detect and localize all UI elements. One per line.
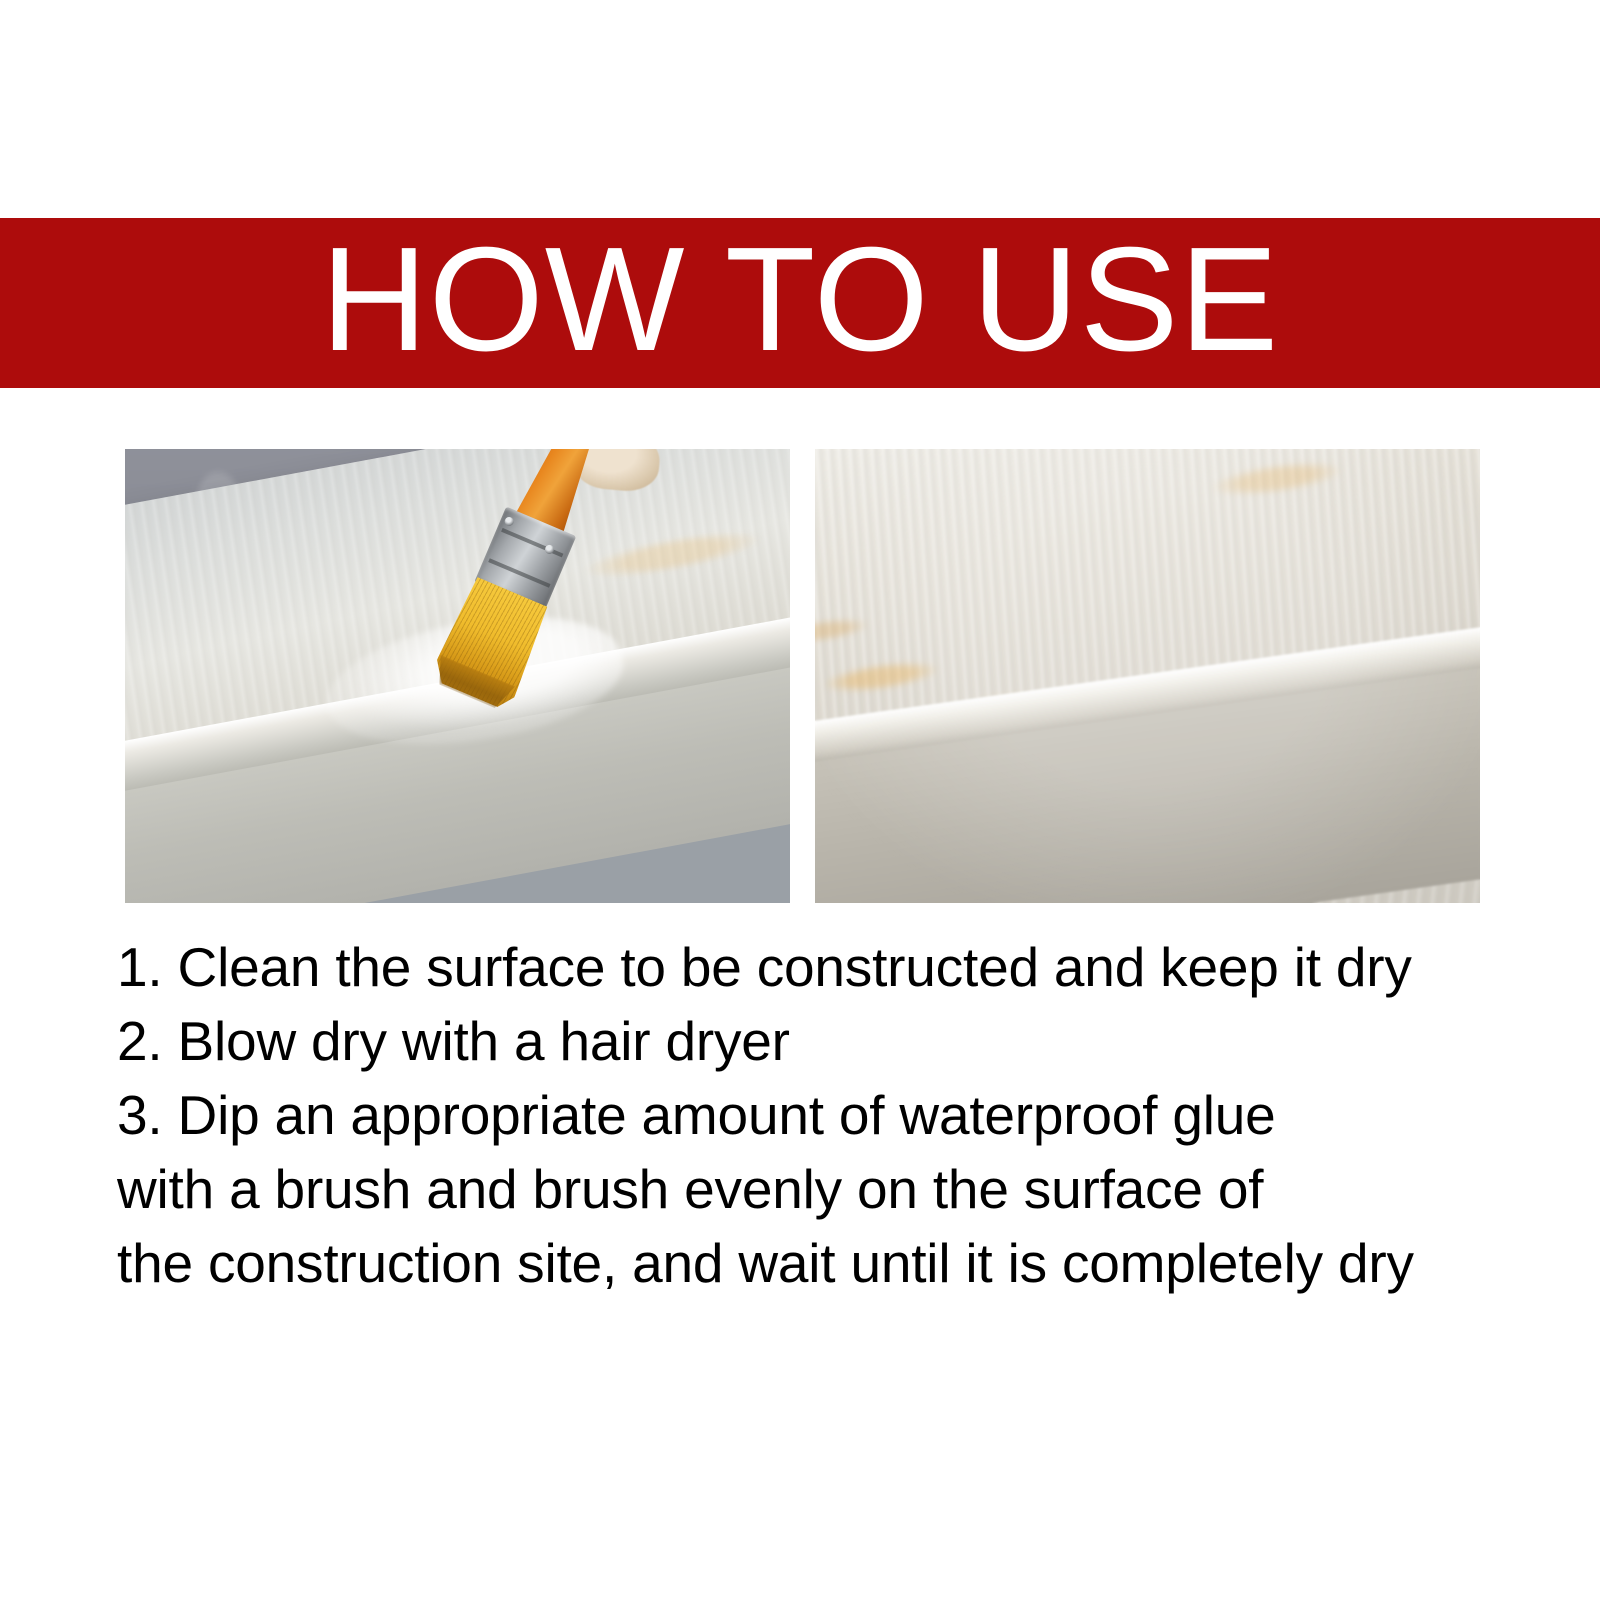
photo-brush-applying-glue [125, 449, 790, 903]
instruction-line: 2. Blow dry with a hair dryer [117, 1004, 1547, 1078]
instruction-line: with a brush and brush evenly on the sur… [117, 1152, 1547, 1226]
instruction-line: 1. Clean the surface to be constructed a… [117, 930, 1547, 1004]
how-to-use-banner: HOW TO USE [0, 218, 1600, 388]
focus-blur-overlay [815, 449, 1480, 903]
photo-row [125, 449, 1480, 903]
instruction-steps: 1. Clean the surface to be constructed a… [117, 930, 1547, 1300]
instruction-line: 3. Dip an appropriate amount of waterpro… [117, 1078, 1547, 1152]
photo-finished-surface-closeup [815, 449, 1480, 903]
page-title: HOW TO USE [321, 226, 1279, 380]
how-to-use-page: HOW TO USE [0, 0, 1600, 1600]
instruction-line: the construction site, and wait until it… [117, 1226, 1547, 1300]
